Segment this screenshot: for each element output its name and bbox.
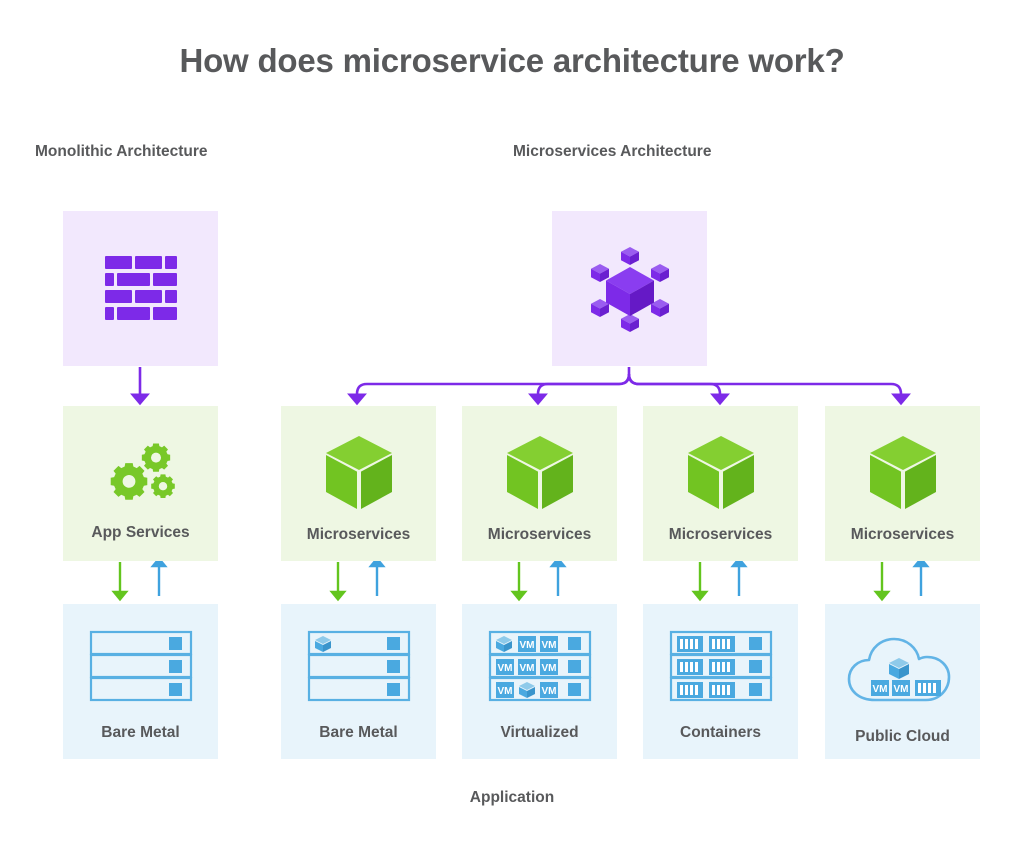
node-microservices-1[interactable]: Microservices: [281, 406, 436, 561]
cube-icon: [685, 434, 757, 512]
node-label: Microservices: [307, 526, 410, 544]
node-virtualized[interactable]: VM VM VM VM VM VM VM Virtualized: [462, 604, 617, 759]
svg-text:VM: VM: [519, 663, 534, 674]
server-rack-icon: [89, 630, 193, 704]
node-label: Public Cloud: [855, 728, 950, 746]
svg-text:VM: VM: [541, 640, 556, 651]
node-microservices-3[interactable]: Microservices: [643, 406, 798, 561]
node-label: Containers: [680, 724, 761, 742]
server-rack-container-icon: [669, 630, 773, 704]
page-title: How does microservice architecture work?: [0, 42, 1024, 80]
node-bare-metal-2[interactable]: Bare Metal: [281, 604, 436, 759]
svg-text:VM: VM: [872, 684, 887, 695]
arrow-pairs-middle-bottom: [120, 562, 921, 596]
cube-icon: [323, 434, 395, 512]
node-label: Virtualized: [500, 724, 578, 742]
node-microservices-2[interactable]: Microservices: [462, 406, 617, 561]
node-label: Bare Metal: [101, 724, 179, 742]
node-label: App Services: [91, 524, 189, 542]
cube-icon: [504, 434, 576, 512]
svg-text:VM: VM: [497, 663, 512, 674]
svg-text:VM: VM: [541, 686, 556, 697]
node-app-services[interactable]: App Services: [63, 406, 218, 561]
node-containers[interactable]: Containers: [643, 604, 798, 759]
section-caption-microservices: Microservices Architecture: [513, 143, 711, 161]
gears-icon: [99, 434, 183, 510]
arrow-bracket-microservices-4: [629, 374, 901, 399]
node-bare-metal-1[interactable]: Bare Metal: [63, 604, 218, 759]
brick-wall-icon: [105, 256, 177, 322]
node-label: Microservices: [851, 526, 954, 544]
section-caption-monolithic: Monolithic Architecture: [35, 143, 208, 161]
arrow-bracket-microservices: [357, 367, 629, 399]
node-public-cloud[interactable]: VM VM Public Cloud: [825, 604, 980, 759]
node-microservices-4[interactable]: Microservices: [825, 406, 980, 561]
cube-icon: [867, 434, 939, 512]
svg-text:VM: VM: [519, 640, 534, 651]
footer-label: Application: [0, 789, 1024, 807]
svg-text:VM: VM: [541, 663, 556, 674]
node-label: Microservices: [669, 526, 772, 544]
server-rack-vm-icon: VM VM VM VM VM VM VM: [488, 630, 592, 704]
svg-text:VM: VM: [497, 686, 512, 697]
server-rack-cube-icon: [307, 630, 411, 704]
node-label: Bare Metal: [319, 724, 397, 742]
arrow-bracket-microservices-3: [629, 374, 720, 399]
cloud-icon: VM VM: [845, 630, 961, 708]
arrow-bracket-microservices-2: [538, 374, 629, 399]
node-microservices-cubes[interactable]: [552, 211, 707, 366]
cube-cluster-icon: [584, 245, 676, 333]
svg-text:VM: VM: [893, 684, 908, 695]
node-monolith-brickwall[interactable]: [63, 211, 218, 366]
node-label: Microservices: [488, 526, 591, 544]
